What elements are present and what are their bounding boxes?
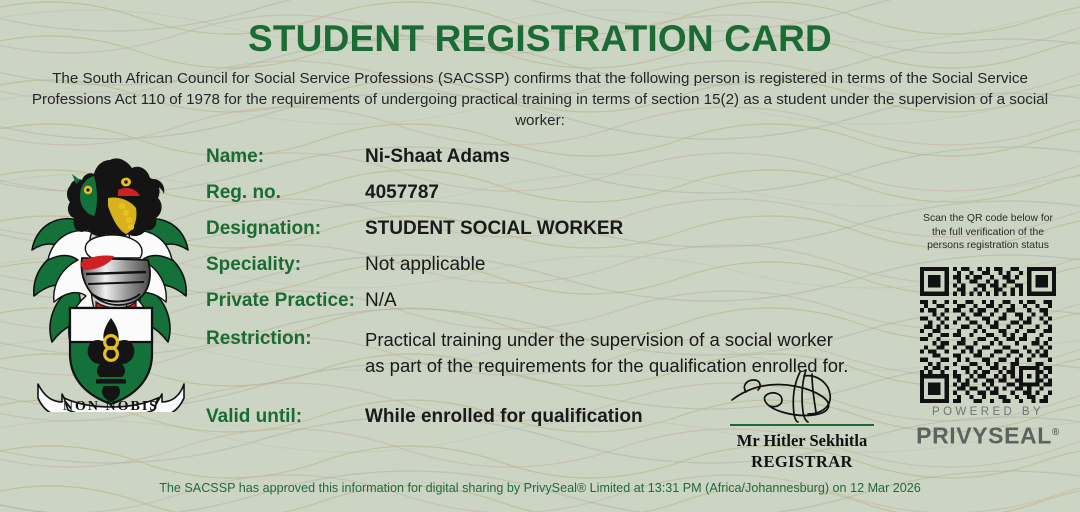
page-title: STUDENT REGISTRATION CARD (0, 18, 1080, 60)
field-label-valid-until: Valid until: (206, 406, 302, 428)
qr-instructions: Scan the QR code below for the full veri… (905, 212, 1071, 253)
field-value-private-practice: N/A (365, 290, 397, 312)
registrar-name: Mr Hitler Sekhitla (716, 430, 888, 451)
brand-name: PRIVYSEAL® (905, 420, 1071, 449)
coat-of-arms-icon: NON NOBIS (22, 146, 198, 412)
brand-trademark: ® (1052, 427, 1060, 438)
intro-paragraph: The South African Council for Social Ser… (30, 68, 1050, 131)
registrar-role: REGISTRAR (716, 451, 888, 472)
field-value-reg-no: 4057787 (365, 182, 439, 204)
field-row-reg-no: Reg. no. 4057787 (206, 182, 906, 208)
field-label-designation: Designation: (206, 218, 321, 240)
registrar-signature-block: Mr Hitler Sekhitla REGISTRAR (716, 368, 888, 472)
field-value-designation: STUDENT SOCIAL WORKER (365, 218, 623, 240)
qr-instructions-line2: the full verification of the (905, 226, 1071, 240)
student-registration-card: STUDENT REGISTRATION CARD The South Afri… (0, 0, 1080, 512)
field-row-name: Name: Ni-Shaat Adams (206, 146, 906, 172)
brand-name-text: PRIVYSEAL (916, 423, 1052, 449)
field-row-private-practice: Private Practice: N/A (206, 290, 906, 316)
approval-footer: The SACSSP has approved this information… (0, 481, 1080, 495)
field-label-name: Name: (206, 146, 264, 168)
field-value-restriction-line1: Practical training under the supervision… (365, 327, 833, 353)
motto-text: NON NOBIS (63, 399, 159, 412)
field-row-designation: Designation: STUDENT SOCIAL WORKER (206, 218, 906, 244)
qr-instructions-line1: Scan the QR code below for (905, 212, 1071, 226)
signature-line (730, 424, 874, 426)
shield-icon (70, 308, 152, 404)
field-value-valid-until: While enrolled for qualification (365, 406, 643, 428)
field-row-speciality: Speciality: Not applicable (206, 254, 906, 280)
field-label-restriction: Restriction: (206, 328, 312, 350)
field-value-name: Ni-Shaat Adams (365, 146, 510, 168)
lion-crest-icon (67, 158, 164, 238)
qr-instructions-line3: persons registration status (905, 239, 1071, 253)
field-label-reg-no: Reg. no. (206, 182, 281, 204)
field-label-speciality: Speciality: (206, 254, 301, 276)
qr-code[interactable] (920, 267, 1056, 403)
field-value-speciality: Not applicable (365, 254, 485, 276)
privyseal-brand: POWERED BY PRIVYSEAL® (905, 405, 1071, 449)
brand-powered-by: POWERED BY (905, 405, 1071, 420)
signature-icon (716, 368, 888, 424)
field-label-private-practice: Private Practice: (206, 290, 355, 312)
